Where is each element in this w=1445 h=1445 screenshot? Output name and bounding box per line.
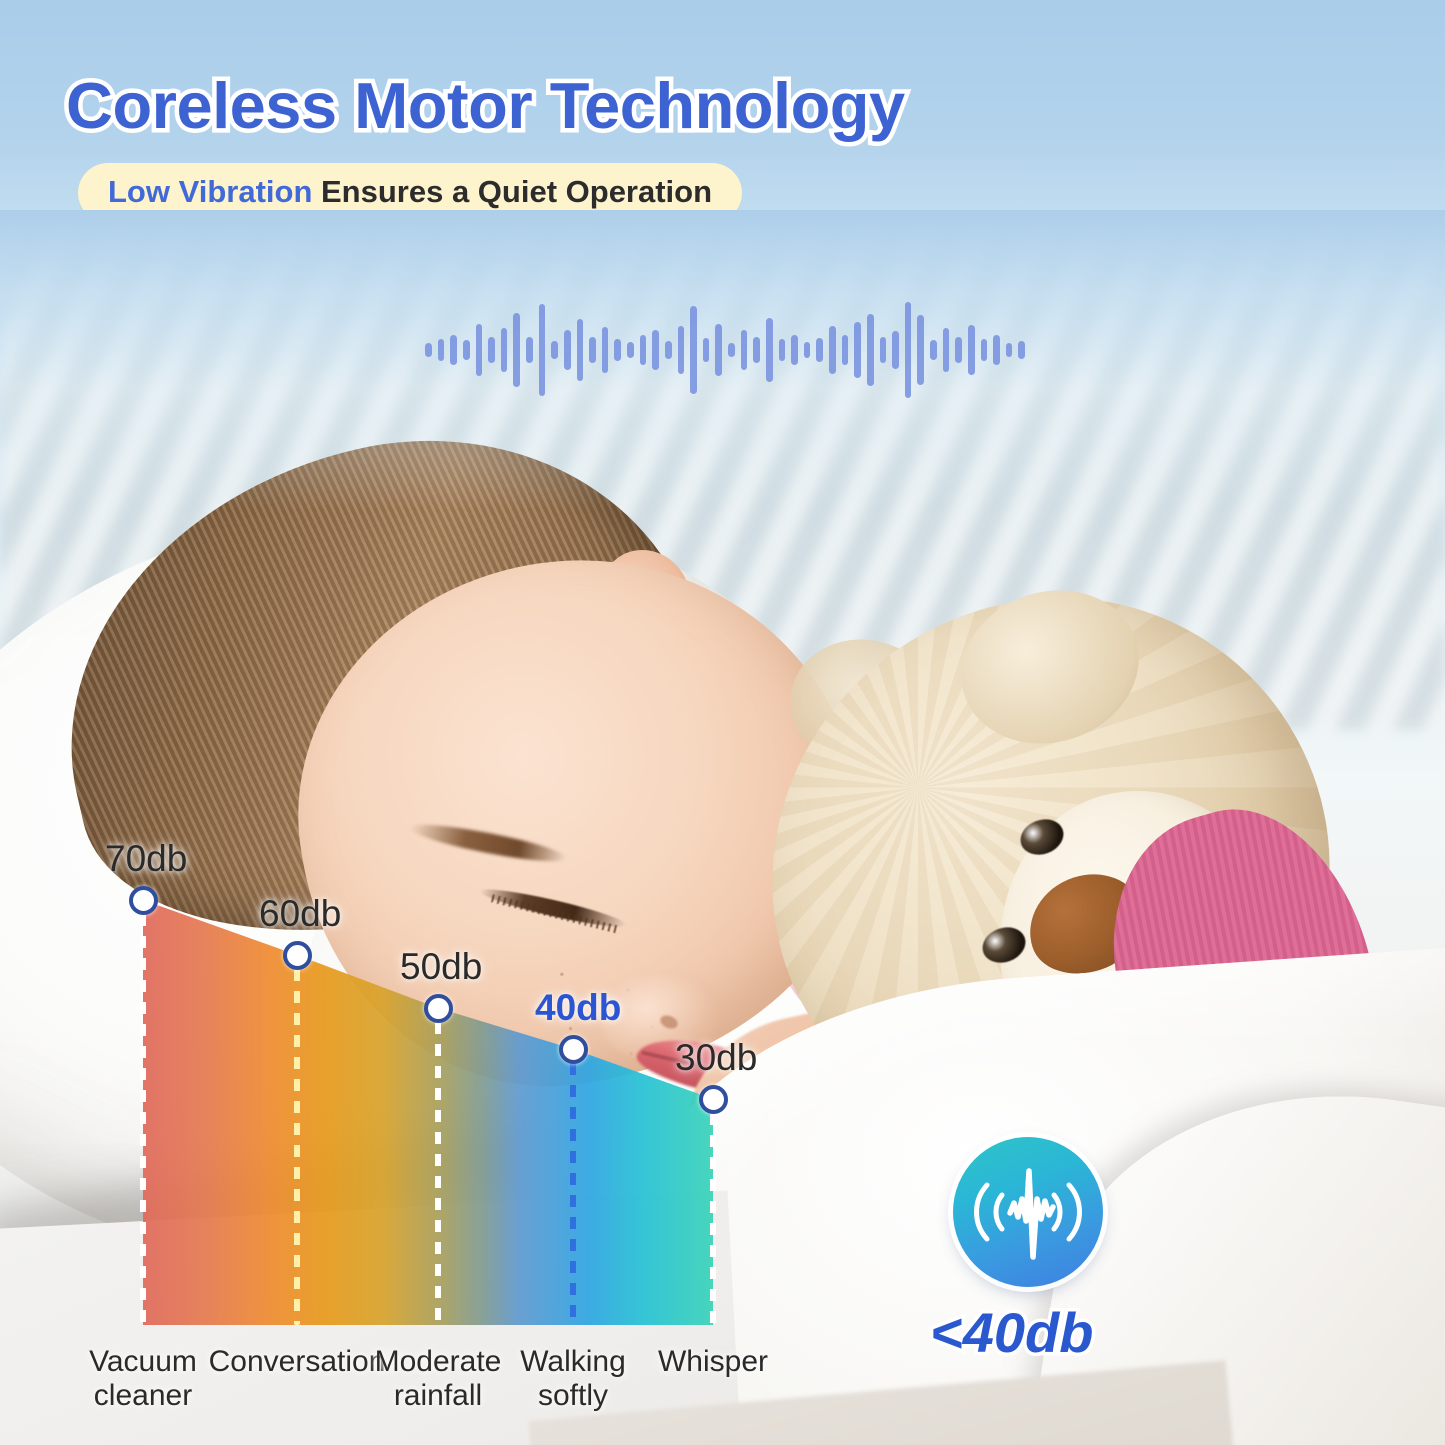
product-feature-banner: Coreless Motor Technology Low Vibration …: [0, 0, 1445, 1445]
sound-wave-icon: [953, 1137, 1103, 1287]
chart-gridline: [294, 969, 300, 1325]
chart-value-label: 60db: [259, 893, 341, 935]
chart-value-label: 70db: [105, 838, 187, 880]
chart-data-point: [699, 1085, 728, 1114]
quiet-badge: [953, 1137, 1103, 1287]
noise-level-chart: 70db60db50db40db30dbVacuum cleanerConver…: [0, 0, 1445, 1445]
chart-value-label: 50db: [400, 946, 482, 988]
chart-gridline: [570, 1063, 576, 1325]
chart-data-point: [424, 994, 453, 1023]
chart-gridline: [435, 1022, 441, 1325]
chart-value-label: 40db: [535, 987, 621, 1029]
chart-category-label: Vacuum cleaner: [53, 1345, 233, 1412]
chart-gridline: [140, 914, 146, 1325]
chart-gridline: [710, 1113, 716, 1325]
chart-data-point: [283, 941, 312, 970]
chart-data-point: [129, 886, 158, 915]
chart-value-label: 30db: [675, 1037, 757, 1079]
quiet-badge-label: <40db: [930, 1300, 1180, 1365]
chart-data-point: [559, 1035, 588, 1064]
chart-category-label: Whisper: [623, 1345, 803, 1379]
